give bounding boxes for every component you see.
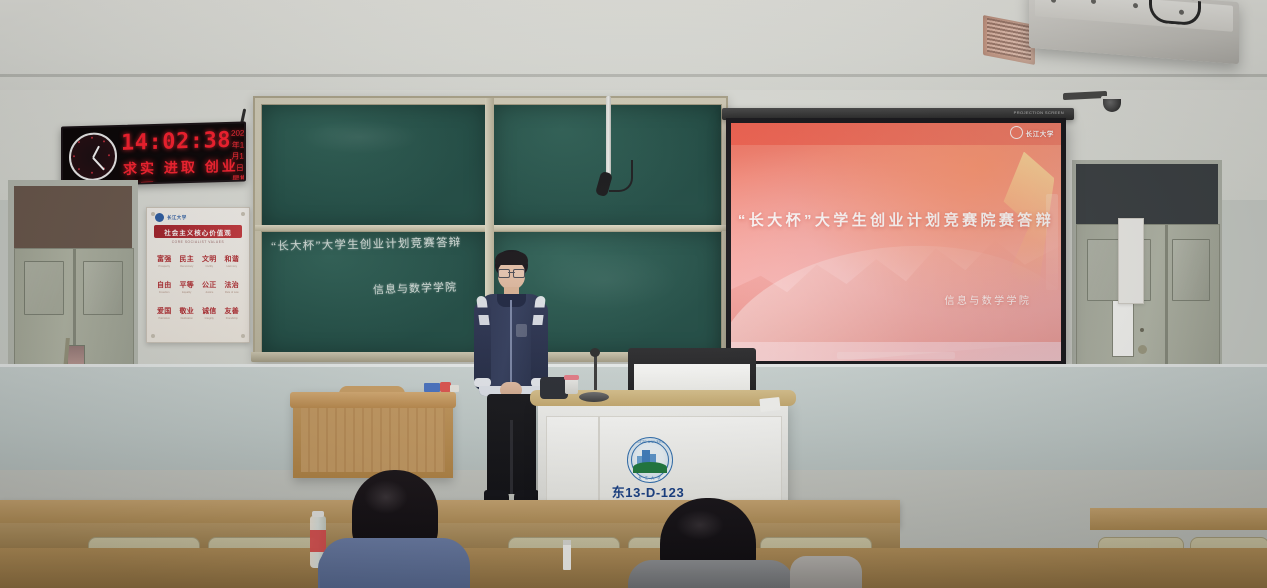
jacket-zipper: [510, 300, 512, 394]
value-cn: 自由: [157, 280, 172, 290]
left-door-transom-lattice: [14, 186, 132, 248]
audience-member-arm: [790, 556, 862, 588]
value-cn: 敬业: [179, 306, 194, 316]
value-cn: 法治: [224, 280, 239, 290]
jacket-school-badge: [516, 324, 527, 337]
lectern-items: [424, 382, 458, 393]
poster-value-item: 诚信Integrity: [199, 301, 220, 325]
whiteboard-marker: [563, 540, 571, 570]
audience-hair-highlight: [676, 510, 724, 540]
university-emblem-icon: YANGTZE UNIVERSITY 长 江 大 学: [627, 437, 673, 483]
value-en: Prosperity: [158, 265, 170, 268]
value-cn: 诚信: [202, 306, 217, 316]
glasses-icon: [498, 269, 525, 276]
emblem-bottom-text: 长 江 大 学: [628, 475, 672, 480]
value-cn: 民主: [179, 254, 194, 264]
poster-title: 社会主义核心价值观: [154, 225, 242, 238]
slide-logo-text: 长江大学: [1026, 128, 1054, 138]
value-en: Freedom: [159, 291, 169, 294]
led-motto-text: 求实 进取 创业 报国: [123, 155, 244, 186]
value-en: Patriotism: [158, 317, 170, 320]
value-en: Civility: [206, 265, 214, 268]
slide-title: “长大杯”大学生创业计划竞赛院赛答辩: [731, 209, 1061, 230]
dome-security-camera-icon: [1101, 96, 1123, 112]
ceiling-seam: [0, 74, 1267, 77]
poster-value-item: 友善Friendship: [222, 301, 243, 325]
value-cn: 平等: [179, 280, 194, 290]
university-mark-icon: [155, 213, 164, 222]
audience-hair-highlight: [364, 480, 408, 514]
value-cn: 和谐: [224, 254, 239, 264]
console-microphone-icon: [590, 348, 600, 357]
console-bag: [540, 377, 568, 399]
led-time-display: 14:02:38: [121, 128, 231, 156]
room-number-label: 东13-D-123: [598, 482, 698, 501]
console-cup: [565, 378, 578, 394]
poster-value-item: 民主Democracy: [177, 249, 198, 273]
screen-housing-label: PROJECTION SCREEN: [1014, 110, 1064, 115]
poster-value-item: 法治Rule of Law: [222, 275, 243, 299]
audience-member-torso: [628, 560, 794, 588]
value-cn: 文明: [202, 254, 217, 264]
value-cn: 爱国: [157, 306, 172, 316]
audience-member-torso: [320, 538, 470, 588]
poster-value-item: 平等Equality: [177, 275, 198, 299]
poster-value-item: 文明Civility: [199, 249, 220, 273]
chalk-text-department: 信息与数学学院: [373, 279, 458, 298]
console-cup-lid: [564, 375, 579, 380]
value-en: Equality: [182, 291, 191, 294]
value-en: Integrity: [205, 317, 214, 320]
console-mouse[interactable]: [579, 392, 609, 402]
value-en: Dedication: [181, 317, 193, 320]
analog-clock-icon: [69, 132, 117, 181]
right-door-vision-panel: [1112, 300, 1134, 357]
projection-screen: 长江大学 “长大杯”大学生创业计划竞赛院赛答辩 信息与数学学院: [726, 118, 1066, 366]
poster-value-item: 公正Justice: [199, 275, 220, 299]
right-door-transom-lattice: [1076, 164, 1218, 224]
poster-university-logo: 长江大学: [155, 213, 245, 222]
bench-desktop-right: [1090, 508, 1267, 530]
university-mark-icon: [1010, 126, 1023, 139]
poster-values-grid: 富强Prosperity 民主Democracy 文明Civility 和谐Ha…: [154, 249, 242, 325]
value-en: Harmony: [226, 265, 237, 268]
slide-subtitle: 信息与数学学院: [945, 292, 1032, 307]
emblem-top-text: YANGTZE UNIVERSITY: [628, 440, 672, 444]
value-en: Democracy: [180, 265, 193, 268]
poster-value-item: 爱国Patriotism: [154, 301, 175, 325]
presenter-pant-gap: [510, 420, 513, 494]
poster-subtitle: CORE SOCIALIST VALUES: [151, 240, 245, 244]
poster-value-item: 敬业Dedication: [177, 301, 198, 325]
value-cn: 公正: [202, 280, 217, 290]
poster-value-item: 和谐Harmony: [222, 249, 243, 273]
presenter-fringe: [495, 252, 528, 265]
wooden-lectern: [293, 392, 453, 478]
value-cn: 友善: [224, 306, 239, 316]
chalk-smudge: [300, 120, 420, 154]
microphone-cable: [609, 160, 633, 192]
poster-value-item: 富强Prosperity: [154, 249, 175, 273]
wall-notice-sheet: [1118, 218, 1144, 304]
value-cn: 富强: [157, 254, 172, 264]
value-en: Friendship: [226, 317, 238, 320]
value-en: Justice: [205, 291, 213, 294]
presentation-slide: 长江大学 “长大杯”大学生创业计划竞赛院赛答辩 信息与数学学院: [731, 123, 1061, 361]
slide-university-logo: 长江大学: [1010, 126, 1054, 139]
slide-bottom-bar: [837, 352, 956, 359]
led-clock-board: 14:02:38 2025年11月10日 星期一 求实 进取 创业 报国: [61, 121, 246, 186]
console-paper: [759, 397, 780, 412]
classroom-scene: 14:02:38 2025年11月10日 星期一 求实 进取 创业 报国: [0, 0, 1267, 588]
right-door-lock[interactable]: [1140, 328, 1144, 332]
value-en: Rule of Law: [225, 291, 239, 294]
chalk-smudge: [530, 250, 680, 310]
poster-value-item: 自由Freedom: [154, 275, 175, 299]
poster-university-name: 长江大学: [167, 215, 187, 221]
right-door-knob[interactable]: [1138, 345, 1147, 354]
socialist-core-values-poster: 长江大学 社会主义核心价值观 CORE SOCIALIST VALUES 富强P…: [146, 207, 250, 343]
